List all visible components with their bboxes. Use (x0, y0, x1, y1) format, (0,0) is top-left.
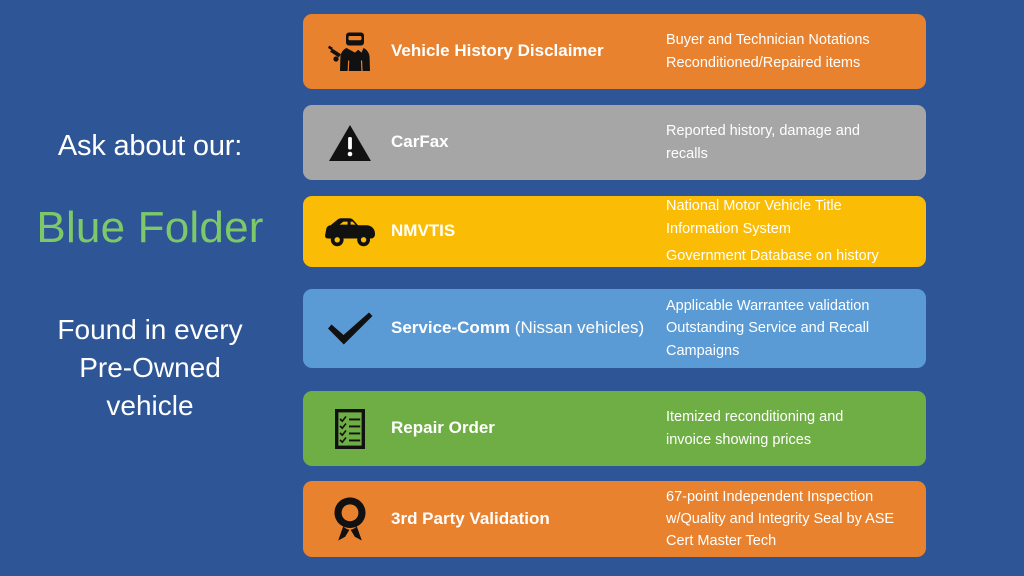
desc-line: w/Quality and Integrity Seal by ASE (666, 508, 914, 530)
found-in-every-vehicle-text: Found in every Pre-Owned vehicle (0, 311, 300, 425)
list-item-description: 67-point Independent Inspection w/Qualit… (666, 486, 926, 552)
checklist-clipboard-icon (303, 391, 391, 466)
list-item-title: Service-Comm (Nissan vehicles) (391, 318, 666, 338)
list-item-service-comm[interactable]: Service-Comm (Nissan vehicles) Applicabl… (303, 289, 926, 368)
award-ribbon-icon (303, 481, 391, 557)
title-main: Vehicle History Disclaimer (391, 41, 604, 60)
list-item-vehicle-history-disclaimer[interactable]: Vehicle History Disclaimer Buyer and Tec… (303, 14, 926, 89)
desc-line: Outstanding Service and Recall (666, 317, 914, 339)
title-main: 3rd Party Validation (391, 509, 550, 528)
title-main: Repair Order (391, 418, 495, 437)
desc-line: 67-point Independent Inspection (666, 486, 914, 508)
warning-triangle-icon (303, 105, 391, 180)
list-item-nmvtis[interactable]: NMVTIS National Motor Vehicle Title Info… (303, 196, 926, 267)
desc-line: Buyer and Technician Notations (666, 29, 914, 51)
desc-line: Reported history, damage and (666, 120, 914, 142)
blue-folder-title: Blue Folder (0, 205, 300, 251)
list-item-description: Applicable Warrantee validation Outstand… (666, 295, 926, 361)
desc-line: Government Database on history (666, 245, 914, 267)
welder-icon (303, 14, 391, 89)
desc-line: recalls (666, 143, 914, 165)
desc-line: Information System (666, 218, 914, 240)
list-item-title: 3rd Party Validation (391, 509, 666, 529)
slide-canvas: Ask about our: Blue Folder Found in ever… (0, 0, 1024, 576)
title-sub: (Nissan vehicles) (515, 318, 644, 337)
list-item-description: National Motor Vehicle Title Information… (666, 196, 926, 267)
found-line-1: Found in every (57, 314, 242, 345)
found-line-2: Pre-Owned (79, 352, 221, 383)
list-item-description: Itemized reconditioning and invoice show… (666, 406, 926, 450)
list-item-title: NMVTIS (391, 221, 666, 241)
document-list: Vehicle History Disclaimer Buyer and Tec… (303, 0, 926, 576)
list-item-title: Vehicle History Disclaimer (391, 41, 666, 61)
checkmark-icon (303, 289, 391, 368)
left-text-column: Ask about our: Blue Folder Found in ever… (0, 0, 300, 576)
list-item-repair-order[interactable]: Repair Order Itemized reconditioning and… (303, 391, 926, 466)
desc-line: invoice showing prices (666, 429, 914, 451)
list-item-description: Reported history, damage and recalls (666, 120, 926, 164)
desc-line: National Motor Vehicle Title (666, 196, 914, 218)
desc-line: Reconditioned/Repaired items (666, 52, 914, 74)
found-line-3: vehicle (106, 390, 193, 421)
list-item-3rd-party-validation[interactable]: 3rd Party Validation 67-point Independen… (303, 481, 926, 557)
list-item-title: CarFax (391, 132, 666, 152)
desc-line: Cert Master Tech (666, 530, 914, 552)
list-item-description: Buyer and Technician Notations Reconditi… (666, 29, 926, 73)
desc-line: Itemized reconditioning and (666, 406, 914, 428)
car-icon (303, 196, 391, 267)
title-main: NMVTIS (391, 221, 455, 240)
list-item-carfax[interactable]: CarFax Reported history, damage and reca… (303, 105, 926, 180)
desc-line: Applicable Warrantee validation (666, 295, 914, 317)
list-item-title: Repair Order (391, 418, 666, 438)
ask-about-our-heading: Ask about our: (0, 131, 300, 163)
title-main: CarFax (391, 132, 449, 151)
desc-line: Campaigns (666, 340, 914, 362)
title-main: Service-Comm (391, 318, 510, 337)
